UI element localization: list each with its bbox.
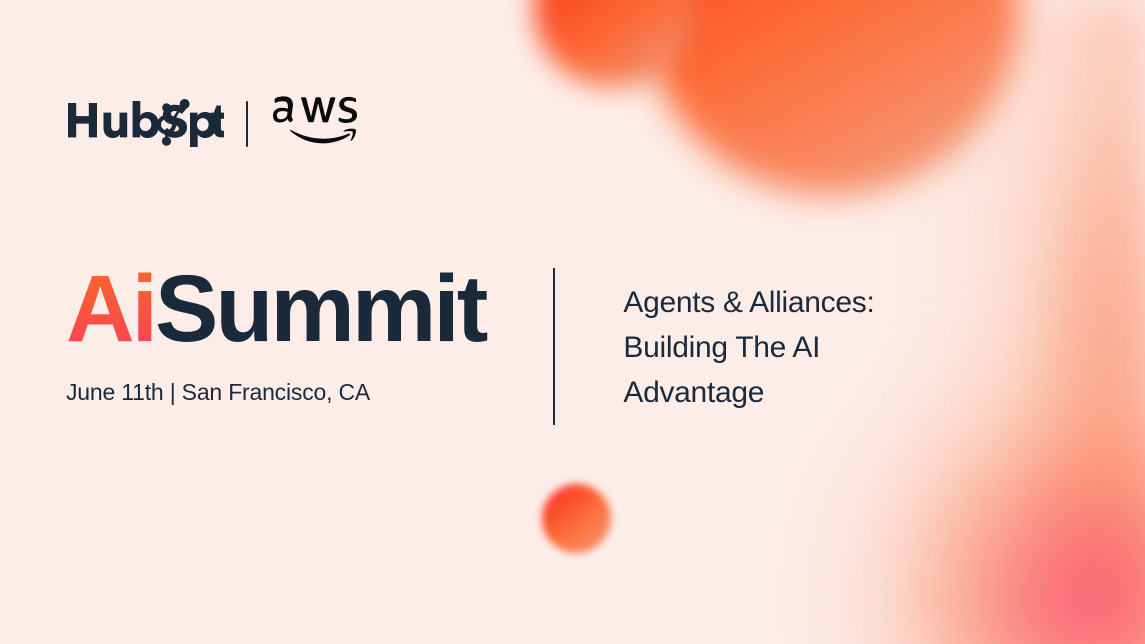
aws-logo: [270, 94, 358, 153]
tagline-line-1: Agents & Alliances:: [623, 280, 874, 325]
vertical-divider-wrap: [553, 262, 555, 425]
banner-content: AiSummit June 11th | San Francisco, CA A…: [0, 0, 1145, 644]
main-content-row: AiSummit June 11th | San Francisco, CA A…: [66, 262, 875, 425]
vertical-divider: [553, 268, 555, 425]
tagline-line-3: Advantage: [623, 370, 874, 415]
amazon-smile-swoosh-icon: [290, 129, 356, 144]
event-meta: June 11th | San Francisco, CA: [66, 379, 485, 406]
title-block: AiSummit June 11th | San Francisco, CA: [66, 262, 485, 425]
hubspot-logo: [66, 95, 224, 152]
logo-lockup: [66, 94, 358, 153]
logo-separator: [246, 101, 248, 147]
tagline-line-2: Building The AI: [623, 325, 874, 370]
tagline-block: Agents & Alliances: Building The AI Adva…: [623, 262, 874, 425]
page-title: AiSummit: [66, 262, 485, 357]
event-tagline: Agents & Alliances: Building The AI Adva…: [623, 280, 874, 415]
event-banner: AiSummit June 11th | San Francisco, CA A…: [0, 0, 1145, 644]
title-word-summit: Summit: [155, 256, 485, 362]
title-accent-ai: Ai: [66, 256, 155, 362]
